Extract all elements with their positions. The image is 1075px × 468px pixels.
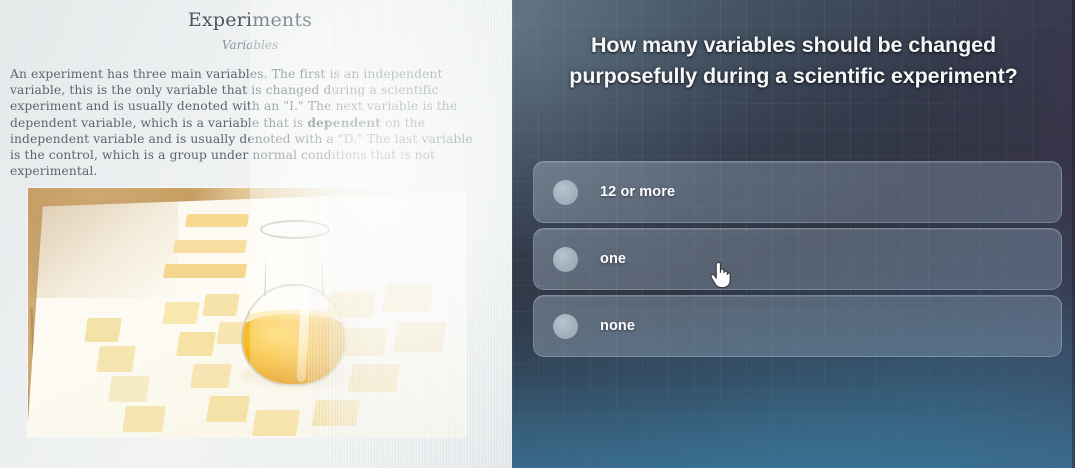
photo-swatch bbox=[163, 264, 247, 278]
answer-option-label: none bbox=[600, 318, 635, 334]
answer-option-label: one bbox=[600, 251, 626, 267]
photo-swatch bbox=[173, 240, 247, 253]
quiz-panel: How many variables should be changed pur… bbox=[512, 0, 1075, 468]
photo-swatch bbox=[312, 400, 360, 426]
photo-swatch bbox=[394, 322, 447, 352]
photo-flask-rim bbox=[260, 220, 330, 239]
photo-swatch bbox=[190, 364, 232, 388]
photo-swatch bbox=[96, 346, 136, 372]
photo-swatch bbox=[206, 396, 250, 422]
photo-swatch bbox=[176, 332, 216, 356]
answer-options-list: 12 or more one none bbox=[533, 161, 1062, 362]
answer-option-0[interactable]: 12 or more bbox=[533, 161, 1062, 223]
flask-photo bbox=[28, 188, 466, 437]
page-title: Experiments bbox=[0, 9, 500, 31]
answer-option-1[interactable]: one bbox=[533, 228, 1062, 290]
photo-flask-body bbox=[241, 284, 347, 386]
photo-flask-liquid-surface bbox=[245, 310, 343, 324]
page-subtitle: Variables bbox=[0, 38, 500, 52]
photo-swatch bbox=[202, 294, 239, 316]
reading-passage-panel: Experiments Variables An experiment has … bbox=[0, 0, 512, 468]
photo-swatch bbox=[84, 318, 121, 342]
photo-swatch bbox=[185, 214, 249, 227]
photo-swatch bbox=[162, 302, 199, 324]
photo-swatch bbox=[122, 406, 166, 432]
passage-text: An experiment has three main variables. … bbox=[10, 66, 482, 179]
answer-option-2[interactable]: none bbox=[533, 295, 1062, 357]
photo-paper-shadow bbox=[28, 188, 178, 298]
radio-button-icon[interactable] bbox=[553, 314, 578, 339]
radio-button-icon[interactable] bbox=[553, 247, 578, 272]
quiz-screen-photo: Experiments Variables An experiment has … bbox=[0, 0, 1075, 468]
passage-text-bold: dependent bbox=[307, 115, 381, 130]
radio-button-icon[interactable] bbox=[553, 180, 578, 205]
question-text: How many variables should be changed pur… bbox=[542, 30, 1045, 92]
photo-swatch bbox=[382, 284, 434, 312]
answer-option-label: 12 or more bbox=[600, 184, 675, 200]
photo-swatch bbox=[108, 376, 150, 402]
photo-swatch bbox=[252, 410, 300, 436]
